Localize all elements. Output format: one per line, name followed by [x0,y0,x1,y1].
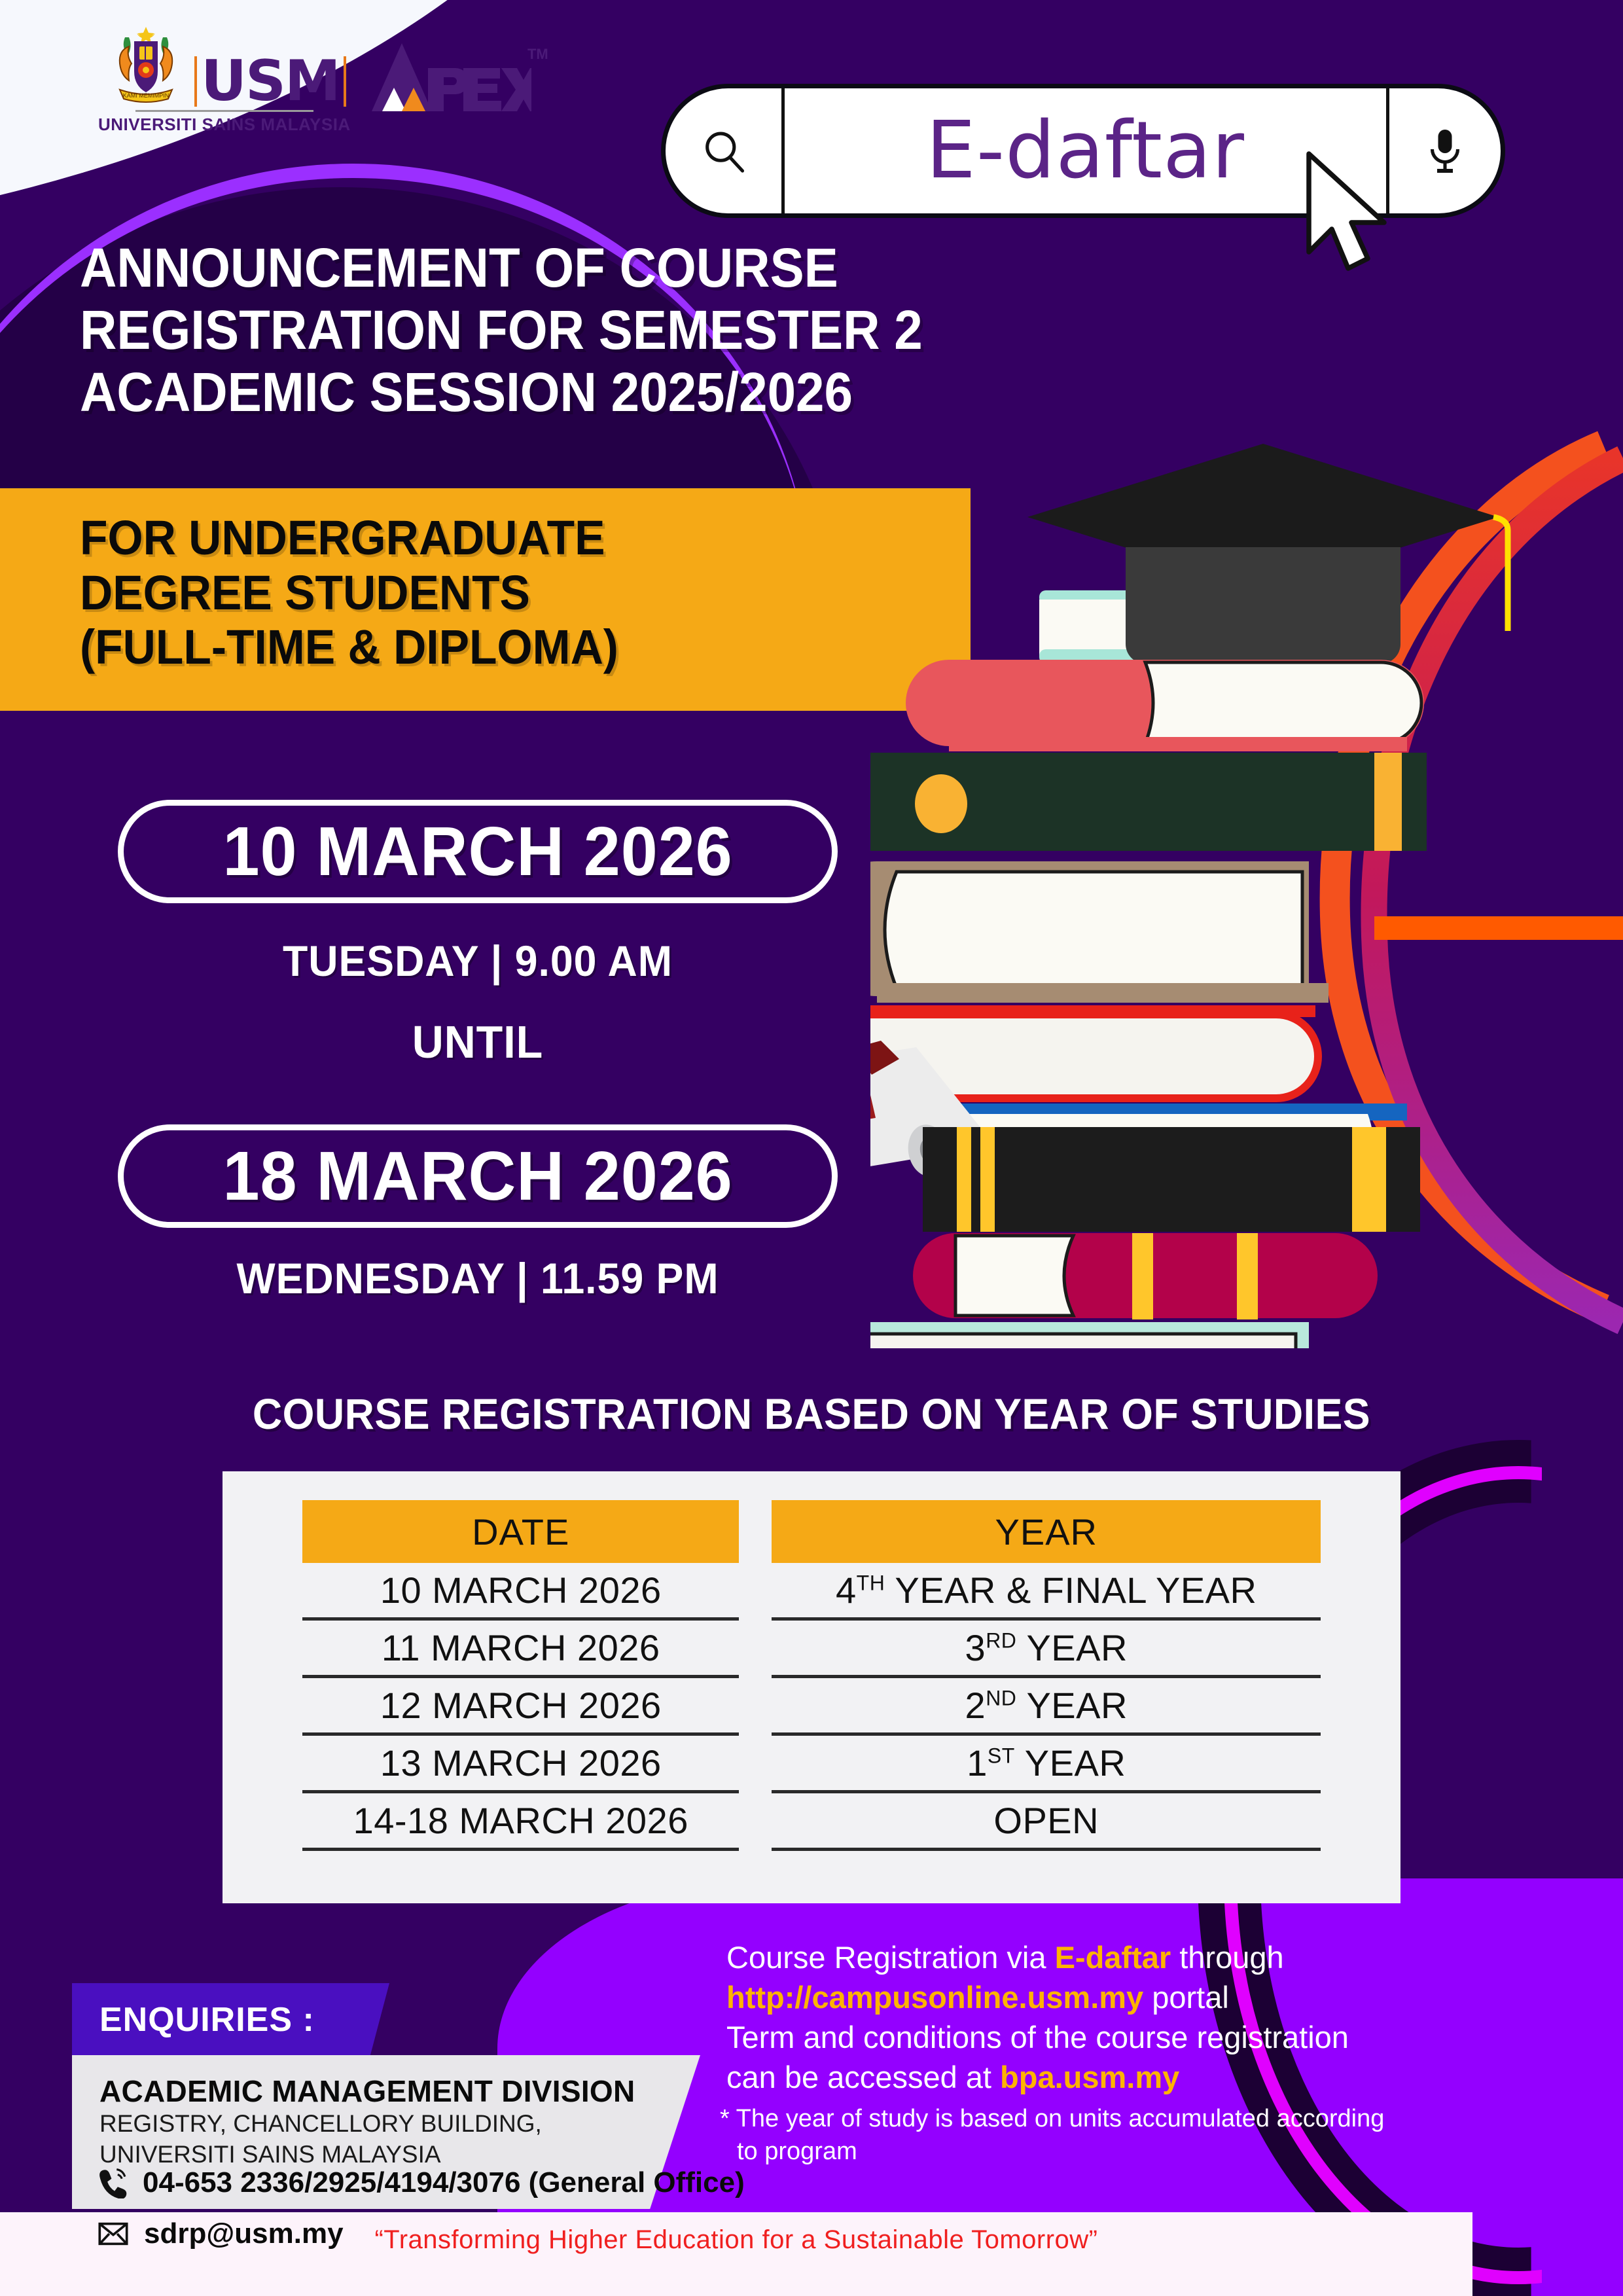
address-line-1: REGISTRY, CHANCELLORY BUILDING, [99,2109,542,2140]
audience-band-text: FOR UNDERGRADUATE DEGREE STUDENTS (FULL-… [80,511,898,675]
end-date-text: 18 MARCH 2026 [223,1137,732,1216]
cell-date: 12 MARCH 2026 [302,1678,739,1736]
search-icon [699,126,749,176]
envelope-icon [98,2221,128,2246]
cell-year: 1ST YEAR [772,1736,1321,1793]
info-2b: portal [1143,1980,1229,2015]
logo-group: KAMI MEMIMPIN USM UNIVERSITI SAINS MALAY… [98,23,531,135]
enquiries-organisation: ACADEMIC MANAGEMENT DIVISION [99,2073,635,2109]
apex-logo: TM [368,39,531,118]
headline-line-1: ANNOUNCEMENT OF COURSE [80,237,1151,299]
registration-info: Course Registration via E-daftar through… [726,1937,1512,2097]
enquiries-label: ENQUIRIES : [99,2000,315,2039]
table-row: 11 MARCH 20263RD YEAR [302,1621,1321,1678]
column-header-date: DATE [302,1500,739,1563]
column-header-year: YEAR [772,1500,1321,1563]
end-date-detail: WEDNESDAY | 11.59 PM [136,1253,820,1303]
usm-logo: KAMI MEMIMPIN USM UNIVERSITI SAINS MALAY… [98,23,351,135]
book-stack-illustration [870,419,1623,1348]
info-line-1: Course Registration via E-daftar through [726,1937,1512,1977]
cursor-arrow-icon [1302,151,1400,275]
info-1c: through [1171,1940,1283,1975]
cell-year: 3RD YEAR [772,1621,1321,1678]
apex-logo-icon [368,39,531,115]
enquiries-phone: 04-653 2336/2925/4194/3076 (General Offi… [143,2166,745,2199]
schedule-title: COURSE REGISTRATION BASED ON YEAR OF STU… [41,1389,1582,1439]
info-line-4: can be accessed at bpa.usm.my [726,2057,1512,2097]
table-row: 12 MARCH 20262ND YEAR [302,1678,1321,1736]
search-input-area[interactable]: E-daftar [785,88,1386,213]
usm-subtitle: UNIVERSITI SAINS MALAYSIA [98,115,351,135]
orange-bar [1374,916,1623,940]
note-line-1: * The year of study is based on units ac… [720,2102,1492,2135]
start-date-pill: 10 MARCH 2026 [118,800,838,903]
headline-line-2: REGISTRATION FOR SEMESTER 2 [80,299,1151,361]
cell-year: 4TH YEAR & FINAL YEAR [772,1563,1321,1621]
start-date-text: 10 MARCH 2026 [223,812,732,891]
usm-letters: USM [194,56,346,107]
info-line-2: http://campusonline.usm.my portal [726,1977,1512,2017]
poster-canvas: KAMI MEMIMPIN USM UNIVERSITI SAINS MALAY… [0,0,1623,2296]
cell-year: OPEN [772,1793,1321,1851]
search-input[interactable]: E-daftar [926,105,1245,196]
cell-date: 13 MARCH 2026 [302,1736,739,1793]
usm-motto-text: KAMI MEMIMPIN [123,92,169,99]
table-header-row: DATE YEAR [302,1500,1321,1563]
schedule-table: DATE YEAR 10 MARCH 20264TH YEAR & FINAL … [270,1500,1353,1851]
enquiries-email: sdrp@usm.my [144,2217,344,2250]
cell-year: 2ND YEAR [772,1678,1321,1736]
table-row: 14-18 MARCH 2026OPEN [302,1793,1321,1851]
audience-line-2: DEGREE STUDENTS [80,565,898,620]
enquiries-email-row: sdrp@usm.my [98,2217,344,2250]
info-1a: Course Registration via [726,1940,1055,1975]
enquiries-phone-row: 04-653 2336/2925/4194/3076 (General Offi… [98,2166,745,2199]
page-title: ANNOUNCEMENT OF COURSE REGISTRATION FOR … [80,237,1151,423]
enquiries-address: REGISTRY, CHANCELLORY BUILDING, UNIVERSI… [99,2109,542,2170]
headline-line-3: ACADEMIC SESSION 2025/2026 [80,361,1151,423]
usm-crest-icon: KAMI MEMIMPIN [103,23,189,107]
cell-date: 14-18 MARCH 2026 [302,1793,739,1851]
mic-icon-slot[interactable] [1386,88,1501,213]
microphone-icon [1425,126,1465,177]
address-line-2: UNIVERSITI SAINS MALAYSIA [99,2140,542,2170]
info-line-3: Term and conditions of the course regist… [726,2017,1512,2057]
info-1b: E-daftar [1055,1940,1171,1975]
phone-icon [98,2167,127,2198]
schedule-card: DATE YEAR 10 MARCH 20264TH YEAR & FINAL … [223,1471,1400,1903]
period-separator: UNTIL [136,1016,820,1068]
cell-date: 10 MARCH 2026 [302,1563,739,1621]
apex-trademark: TM [527,46,548,63]
table-row: 10 MARCH 20264TH YEAR & FINAL YEAR [302,1563,1321,1621]
enquiries-tab: ENQUIRIES : [72,1983,389,2055]
graduation-cap-crown [1126,547,1400,664]
portal-url[interactable]: http://campusonline.usm.my [726,1980,1143,2015]
cell-date: 11 MARCH 2026 [302,1621,739,1678]
search-icon-slot[interactable] [666,88,785,213]
note-line-2: to program [720,2135,1492,2168]
info-4a: can be accessed at [726,2060,1000,2094]
year-of-study-note: * The year of study is based on units ac… [720,2102,1492,2168]
audience-line-3: (FULL-TIME & DIPLOMA) [80,620,898,675]
terms-url[interactable]: bpa.usm.my [1000,2060,1179,2094]
table-body: 10 MARCH 20264TH YEAR & FINAL YEAR11 MAR… [302,1563,1321,1851]
audience-line-1: FOR UNDERGRADUATE [80,511,898,565]
end-date-pill: 18 MARCH 2026 [118,1124,838,1228]
table-row: 13 MARCH 20261ST YEAR [302,1736,1321,1793]
start-date-detail: TUESDAY | 9.00 AM [136,936,820,986]
